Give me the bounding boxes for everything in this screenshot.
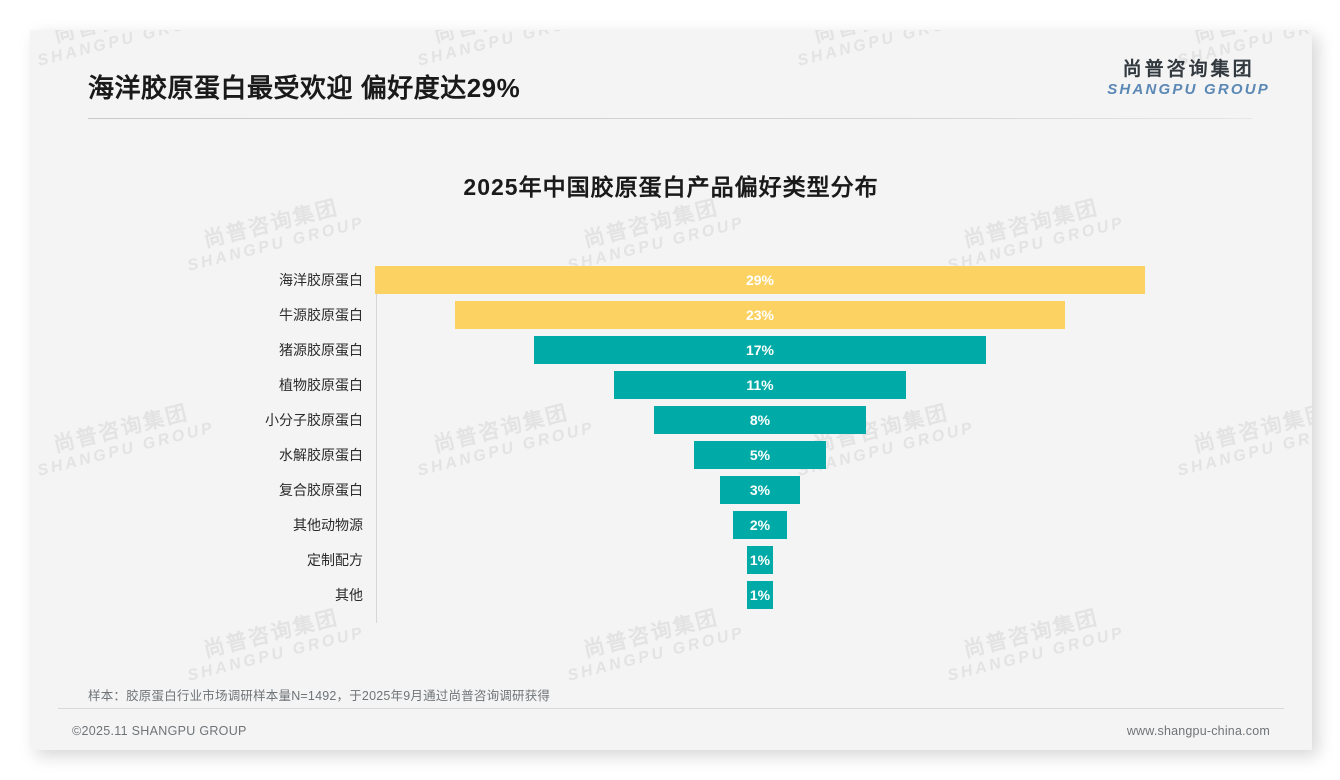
chart-row: 牛源胶原蛋白23%: [88, 301, 1252, 329]
bar-value-label: 8%: [750, 412, 770, 428]
slide-header: 海洋胶原蛋白最受欢迎 偏好度达29% 尚普咨询集团 SHANGPU GROUP: [30, 30, 1312, 122]
funnel-bar-chart: 海洋胶原蛋白29%牛源胶原蛋白23%猪源胶原蛋白17%植物胶原蛋白11%小分子胶…: [88, 258, 1252, 658]
page-title: 海洋胶原蛋白最受欢迎 偏好度达29%: [88, 68, 520, 105]
chart-row: 水解胶原蛋白5%: [88, 441, 1252, 469]
bar-track: 17%: [377, 336, 1252, 364]
bar-segment[interactable]: 11%: [614, 371, 906, 399]
chart-row: 小分子胶原蛋白8%: [88, 406, 1252, 434]
category-label: 猪源胶原蛋白: [88, 336, 363, 364]
bar-segment[interactable]: 1%: [747, 581, 774, 609]
bar-value-label: 2%: [750, 517, 770, 533]
bar-segment[interactable]: 29%: [375, 266, 1145, 294]
category-label: 海洋胶原蛋白: [88, 266, 363, 294]
slide-card: 尚普咨询集团SHANGPU GROUP尚普咨询集团SHANGPU GROUP尚普…: [30, 30, 1312, 750]
category-label: 植物胶原蛋白: [88, 371, 363, 399]
chart-row: 植物胶原蛋白11%: [88, 371, 1252, 399]
bar-segment[interactable]: 23%: [455, 301, 1066, 329]
category-label: 牛源胶原蛋白: [88, 301, 363, 329]
bar-value-label: 23%: [746, 307, 774, 323]
bar-segment[interactable]: 2%: [733, 511, 786, 539]
bar-track: 23%: [377, 301, 1252, 329]
chart-row: 其他1%: [88, 581, 1252, 609]
bar-track: 11%: [377, 371, 1252, 399]
bar-track: 5%: [377, 441, 1252, 469]
source-note: 样本：胶原蛋白行业市场调研样本量N=1492，于2025年9月通过尚普咨询调研获…: [88, 685, 550, 704]
category-label: 小分子胶原蛋白: [88, 406, 363, 434]
category-label: 水解胶原蛋白: [88, 441, 363, 469]
bar-value-label: 11%: [746, 377, 773, 393]
category-label: 复合胶原蛋白: [88, 476, 363, 504]
chart-row: 其他动物源2%: [88, 511, 1252, 539]
chart-row: 复合胶原蛋白3%: [88, 476, 1252, 504]
bar-segment[interactable]: 17%: [534, 336, 985, 364]
category-label: 定制配方: [88, 546, 363, 574]
bar-track: 8%: [377, 406, 1252, 434]
category-label: 其他: [88, 581, 363, 609]
brand-logo: 尚普咨询集团 SHANGPU GROUP: [1107, 60, 1270, 98]
header-divider: [88, 118, 1252, 119]
bar-value-label: 29%: [746, 272, 774, 288]
brand-name-cn: 尚普咨询集团: [1107, 60, 1270, 81]
copyright-text: ©2025.11 SHANGPU GROUP: [72, 724, 247, 738]
slide-footer: ©2025.11 SHANGPU GROUP www.shangpu-china…: [30, 716, 1312, 750]
bar-segment[interactable]: 8%: [654, 406, 866, 434]
chart-row: 定制配方1%: [88, 546, 1252, 574]
chart-rows: 海洋胶原蛋白29%牛源胶原蛋白23%猪源胶原蛋白17%植物胶原蛋白11%小分子胶…: [88, 266, 1252, 616]
bar-value-label: 3%: [750, 482, 770, 498]
chart-row: 猪源胶原蛋白17%: [88, 336, 1252, 364]
chart-row: 海洋胶原蛋白29%: [88, 266, 1252, 294]
bar-value-label: 1%: [750, 552, 770, 568]
brand-name-en: SHANGPU GROUP: [1107, 82, 1270, 99]
category-label: 其他动物源: [88, 511, 363, 539]
bar-track: 2%: [377, 511, 1252, 539]
bar-track: 3%: [377, 476, 1252, 504]
bar-track: 1%: [377, 546, 1252, 574]
bar-segment[interactable]: 1%: [747, 546, 774, 574]
bar-value-label: 1%: [750, 587, 770, 603]
bar-track: 1%: [377, 581, 1252, 609]
chart-title: 2025年中国胶原蛋白产品偏好类型分布: [30, 168, 1312, 202]
footer-divider: [58, 708, 1284, 709]
bar-segment[interactable]: 5%: [694, 441, 827, 469]
website-link[interactable]: www.shangpu-china.com: [1127, 724, 1270, 738]
bar-value-label: 5%: [750, 447, 770, 463]
bar-value-label: 17%: [746, 342, 774, 358]
bar-track: 29%: [377, 266, 1252, 294]
bar-segment[interactable]: 3%: [720, 476, 800, 504]
